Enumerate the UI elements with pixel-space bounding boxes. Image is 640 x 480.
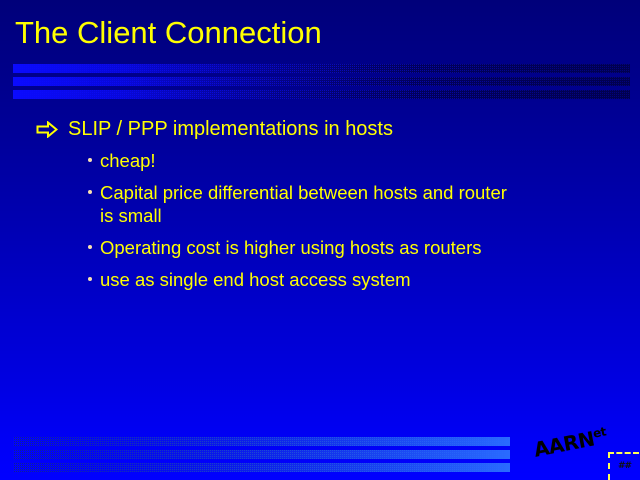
bullet-level1-text: SLIP / PPP implementations in hosts bbox=[68, 118, 393, 140]
bullet-level2: cheap! bbox=[0, 149, 640, 172]
bullet-level2: use as single end host access system bbox=[0, 268, 640, 291]
aarnet-logo: AARNet bbox=[534, 434, 606, 468]
aarnet-logo-main: AARN bbox=[532, 427, 597, 462]
bullet-dot-icon bbox=[88, 277, 92, 281]
slide-canvas: The Client Connection SLIP / PPP impleme… bbox=[0, 0, 640, 480]
decorative-bar bbox=[13, 463, 510, 472]
decorative-bar bbox=[13, 64, 630, 73]
decorative-bar bbox=[13, 437, 510, 446]
right-arrow-icon bbox=[36, 121, 58, 138]
bar-dither-overlay bbox=[13, 450, 510, 459]
bullet-level2-line: Capital price differential between hosts… bbox=[100, 181, 640, 204]
top-decorative-bars bbox=[13, 64, 630, 99]
decorative-bar bbox=[13, 450, 510, 459]
bar-dither-overlay bbox=[13, 64, 630, 73]
bullet-level2: Operating cost is higher using hosts as … bbox=[0, 236, 640, 259]
bullet-level2-line: use as single end host access system bbox=[100, 268, 640, 291]
decorative-bar bbox=[13, 90, 630, 99]
bullet-level2: Capital price differential between hosts… bbox=[0, 181, 640, 227]
bullet-level2-line: Operating cost is higher using hosts as … bbox=[100, 236, 640, 259]
bullet-level2-line: cheap! bbox=[100, 149, 640, 172]
aarnet-logo-text: AARNet bbox=[532, 424, 609, 462]
bullet-dot-icon bbox=[88, 158, 92, 162]
bar-dither-overlay bbox=[13, 463, 510, 472]
bottom-decorative-bars bbox=[13, 437, 510, 472]
bullet-level2-line: is small bbox=[100, 204, 640, 227]
bar-dither-overlay bbox=[13, 437, 510, 446]
bullet-level1: SLIP / PPP implementations in hosts bbox=[0, 116, 640, 142]
page-title: The Client Connection bbox=[15, 15, 615, 51]
decorative-bar bbox=[13, 77, 630, 86]
aarnet-logo-suffix: et bbox=[592, 424, 607, 440]
bullet-dot-icon bbox=[88, 245, 92, 249]
bar-dither-overlay bbox=[13, 77, 630, 86]
bullet-dot-icon bbox=[88, 190, 92, 194]
bar-dither-overlay bbox=[13, 90, 630, 99]
slide-body: SLIP / PPP implementations in hosts chea… bbox=[0, 116, 640, 300]
page-number-text: ## bbox=[618, 461, 631, 471]
page-number-placeholder: ## bbox=[608, 452, 639, 480]
